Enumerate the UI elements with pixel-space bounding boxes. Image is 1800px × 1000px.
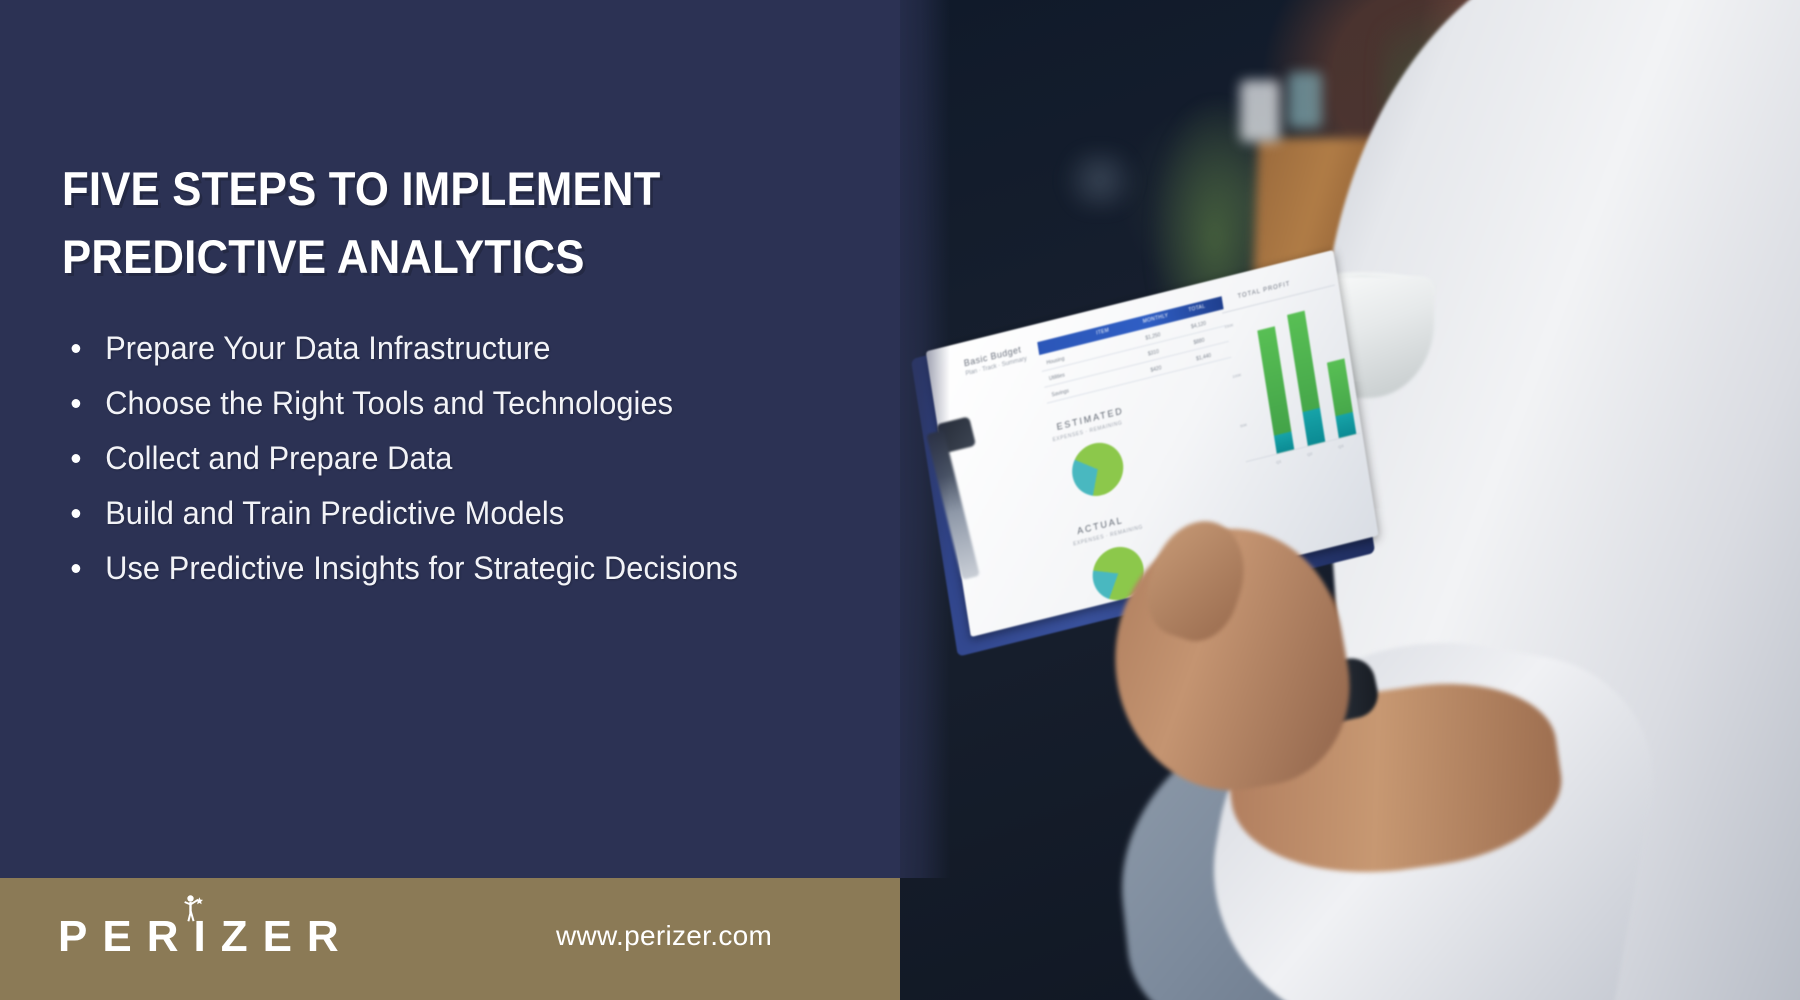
table-header-cell: MONTHLY bbox=[1142, 313, 1168, 325]
table-header-cell: TOTAL bbox=[1188, 304, 1206, 314]
x-tick-label: Q2 bbox=[1307, 451, 1313, 457]
website-url[interactable]: www.perizer.com bbox=[556, 920, 772, 952]
bar-q2 bbox=[1287, 311, 1325, 446]
y-tick-label: 50K bbox=[1240, 422, 1248, 429]
title-line-2: PREDICTIVE ANALYTICS bbox=[62, 223, 769, 291]
steps-list: Prepare Your Data Infrastructure Choose … bbox=[62, 332, 902, 607]
bar-q2-base bbox=[1302, 408, 1325, 446]
page-title: FIVE STEPS TO IMPLEMENT PREDICTIVE ANALY… bbox=[62, 155, 769, 291]
jar-bokeh-icon bbox=[1288, 72, 1322, 128]
table-cell: $4,120 bbox=[1191, 321, 1207, 331]
table-cell: Savings bbox=[1051, 388, 1069, 398]
table-cell: $420 bbox=[1150, 365, 1162, 374]
bar-q3 bbox=[1327, 358, 1356, 438]
title-line-1: FIVE STEPS TO IMPLEMENT bbox=[62, 162, 660, 215]
slide-canvas: Basic Budget Plan · Track · Summary ITEM… bbox=[0, 0, 1800, 1000]
estimated-pie-chart bbox=[1068, 437, 1127, 501]
bottle-bokeh-icon bbox=[1240, 80, 1280, 142]
table-cell: $310 bbox=[1148, 349, 1160, 358]
person-figure-icon bbox=[181, 894, 207, 926]
list-item: Choose the Right Tools and Technologies bbox=[62, 387, 868, 419]
cool-bokeh-light bbox=[1055, 150, 1145, 210]
table-cell: $880 bbox=[1193, 338, 1205, 347]
y-tick-label: 100K bbox=[1232, 372, 1242, 379]
list-item: Use Predictive Insights for Strategic De… bbox=[62, 552, 868, 584]
table-cell: $1,440 bbox=[1196, 353, 1212, 363]
table-cell: Housing bbox=[1046, 356, 1065, 366]
list-item: Collect and Prepare Data bbox=[62, 442, 868, 474]
bar-q1 bbox=[1257, 326, 1294, 453]
x-tick-label: Q1 bbox=[1276, 459, 1282, 465]
y-tick-label: 150K bbox=[1224, 322, 1234, 329]
x-tick-label: Q3 bbox=[1338, 443, 1344, 449]
table-cell: Utilities bbox=[1049, 373, 1066, 383]
table-cell: $1,250 bbox=[1145, 332, 1161, 342]
table-header-cell: ITEM bbox=[1096, 327, 1110, 336]
bar-chart: 150K 100K 50K Q1 Q2 Q3 bbox=[1223, 288, 1363, 475]
brand-logo[interactable]: PERIZER bbox=[58, 910, 354, 964]
list-item: Prepare Your Data Infrastructure bbox=[62, 332, 868, 364]
bar-q3-base bbox=[1335, 412, 1356, 438]
footer-bar: PERIZER www.perizer.com bbox=[0, 878, 900, 1000]
list-item: Build and Train Predictive Models bbox=[62, 497, 868, 529]
